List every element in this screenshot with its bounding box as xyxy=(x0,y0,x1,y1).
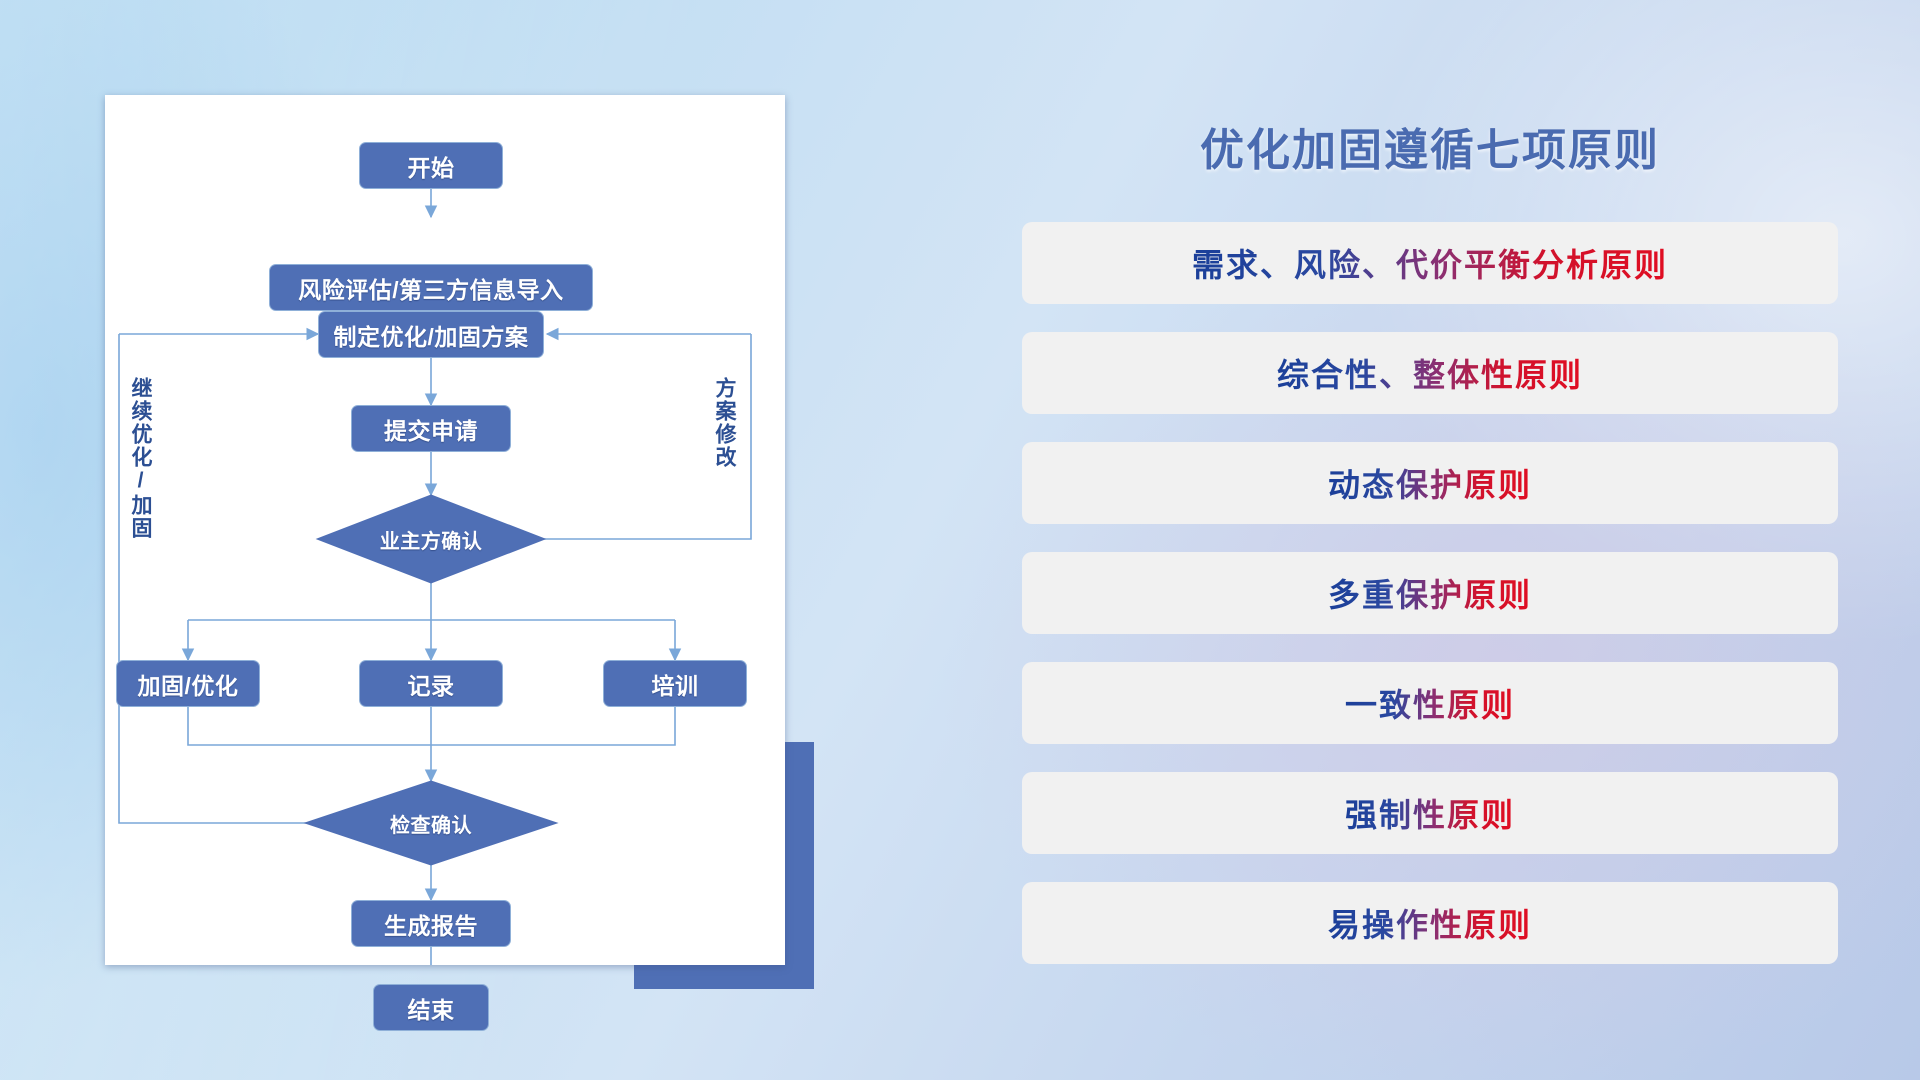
flow-node-training[interactable]: 培训 xyxy=(603,660,747,707)
principles-card-list: 需求、风险、代价平衡分析原则 综合性、整体性原则 动态保护原则 多重保护原则 一… xyxy=(1020,220,1840,990)
principle-card-4[interactable]: 多重保护原则 xyxy=(1020,550,1840,636)
principle-card-label: 多重保护原则 xyxy=(1328,570,1532,616)
principle-card-6[interactable]: 强制性原则 xyxy=(1020,770,1840,856)
flow-node-risk-assessment[interactable]: 风险评估/第三方信息导入 xyxy=(269,264,593,311)
principle-card-1[interactable]: 需求、风险、代价平衡分析原则 xyxy=(1020,220,1840,306)
flow-node-plan[interactable]: 制定优化/加固方案 xyxy=(318,311,544,358)
flow-node-inspection-confirm[interactable]: 检查确认 xyxy=(351,803,511,843)
principle-card-7[interactable]: 易操作性原则 xyxy=(1020,880,1840,966)
principle-card-label: 需求、风险、代价平衡分析原则 xyxy=(1192,240,1668,286)
flow-node-submit-application[interactable]: 提交申请 xyxy=(351,405,511,452)
principles-title: 优化加固遵循七项原则 xyxy=(1150,114,1710,178)
principle-card-5[interactable]: 一致性原则 xyxy=(1020,660,1840,746)
principle-card-label: 易操作性原则 xyxy=(1328,900,1532,946)
flow-node-owner-confirm[interactable]: 业主方确认 xyxy=(341,519,521,559)
flow-node-reinforce-optimize[interactable]: 加固/优化 xyxy=(116,660,260,707)
flow-edge-label-plan-revision: 方案修改 xyxy=(713,377,735,469)
flow-node-start[interactable]: 开始 xyxy=(359,142,503,189)
principles-panel: 优化加固遵循七项原则 需求、风险、代价平衡分析原则 综合性、整体性原则 动态保护… xyxy=(1020,100,1840,1000)
flow-node-end[interactable]: 结束 xyxy=(373,984,489,1031)
flow-edge-label-continue-optimize: 继续优化/加固 xyxy=(129,377,151,540)
flow-node-generate-report[interactable]: 生成报告 xyxy=(351,900,511,947)
principle-card-label: 强制性原则 xyxy=(1345,790,1515,836)
principle-card-label: 动态保护原则 xyxy=(1328,460,1532,506)
principle-card-2[interactable]: 综合性、整体性原则 xyxy=(1020,330,1840,416)
flow-node-record[interactable]: 记录 xyxy=(359,660,503,707)
principle-card-label: 综合性、整体性原则 xyxy=(1277,350,1583,396)
flowchart-panel: 开始 风险评估/第三方信息导入 制定优化/加固方案 提交申请 业主方确认 加固/… xyxy=(105,95,785,965)
principle-card-label: 一致性原则 xyxy=(1345,680,1515,726)
principle-card-3[interactable]: 动态保护原则 xyxy=(1020,440,1840,526)
